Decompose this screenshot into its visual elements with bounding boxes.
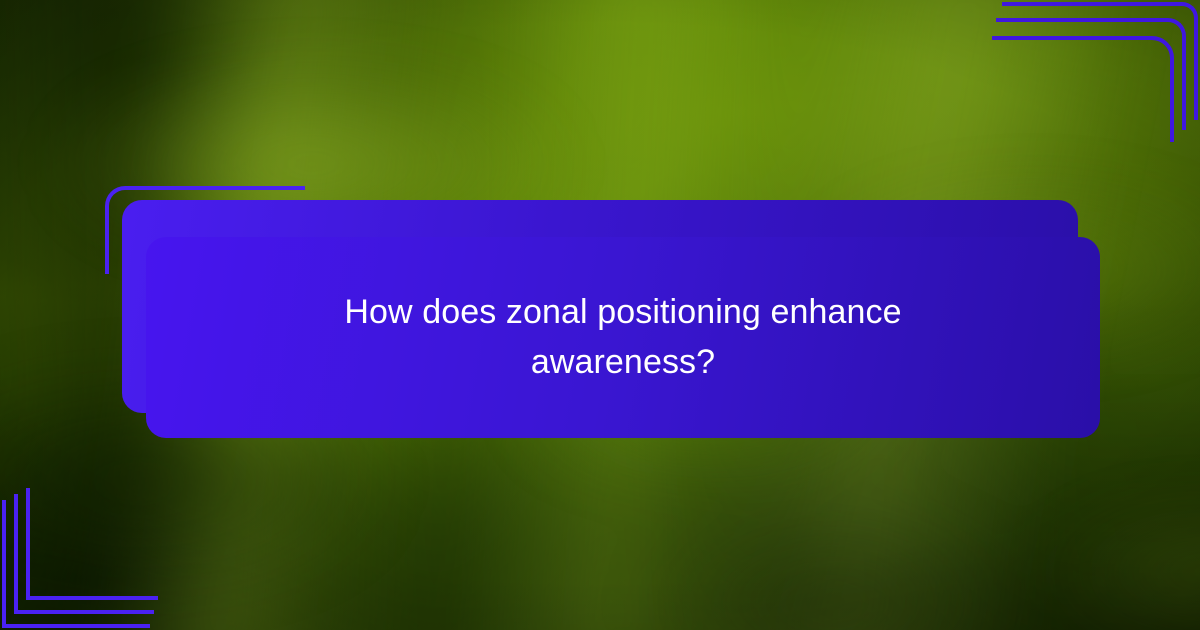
headline-container: How does zonal positioning enhance aware…: [146, 237, 1100, 438]
poster-canvas: How does zonal positioning enhance aware…: [0, 0, 1200, 630]
page-title: How does zonal positioning enhance aware…: [303, 288, 943, 387]
